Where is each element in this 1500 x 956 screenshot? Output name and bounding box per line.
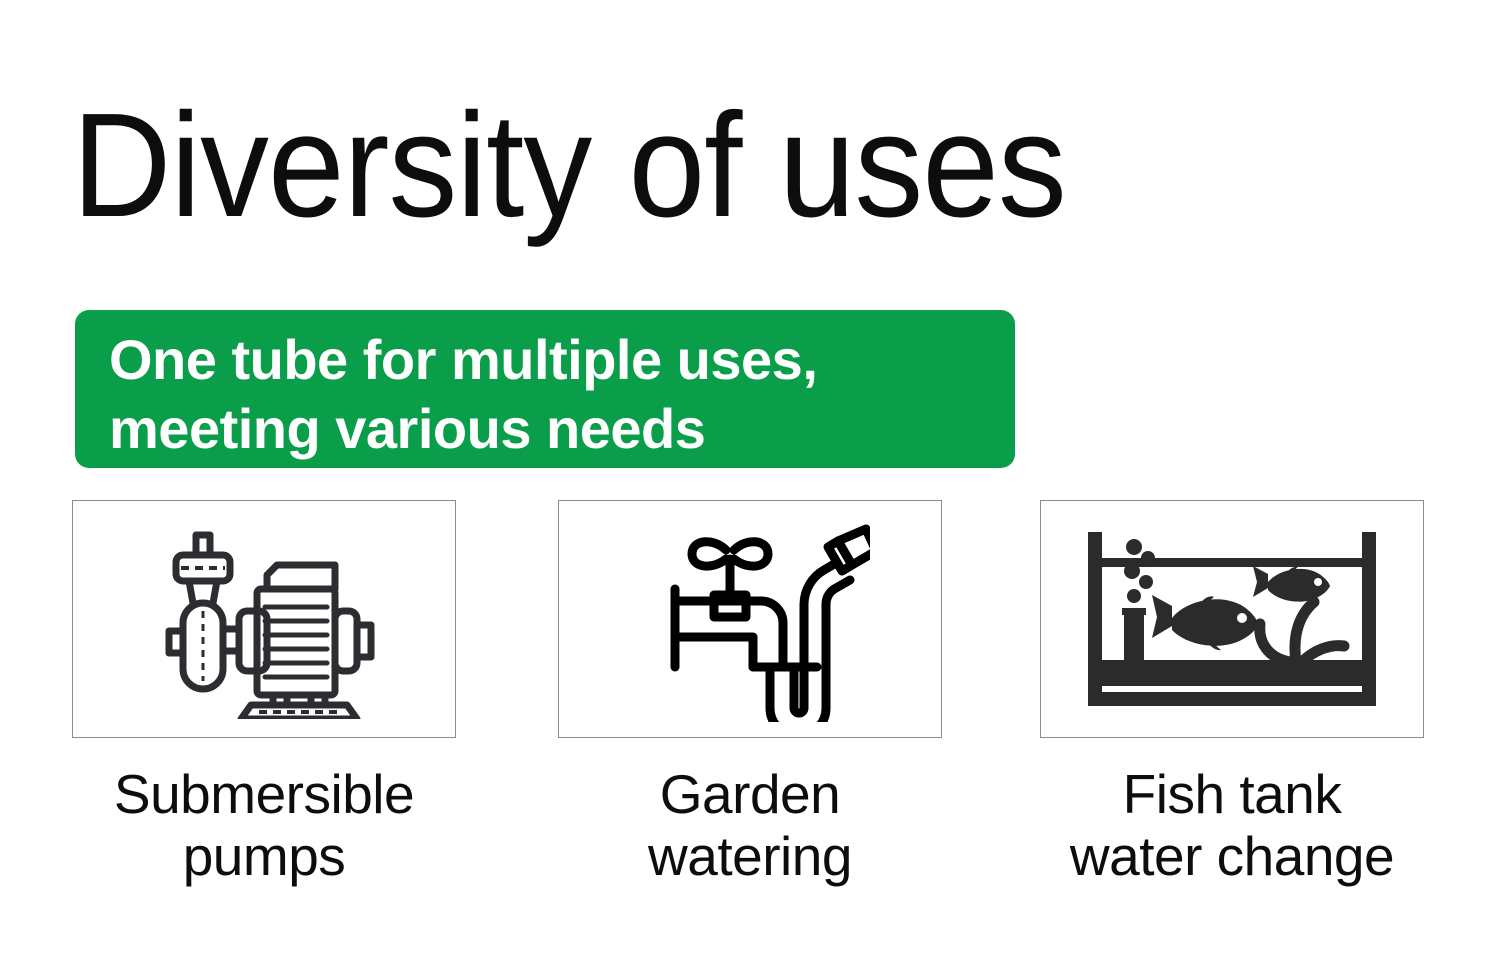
fish-tank-icon xyxy=(1082,526,1382,712)
use-case-card-submersible-pumps: Submersible pumps xyxy=(72,500,456,887)
card-caption-fish-tank: Fish tank water change xyxy=(1040,764,1424,887)
caption-line-1: Garden xyxy=(558,764,942,826)
caption-line-2: watering xyxy=(558,826,942,888)
caption-line-1: Fish tank xyxy=(1040,764,1424,826)
page-title: Diversity of uses xyxy=(72,92,1066,240)
garden-faucet-hose-icon xyxy=(630,517,870,722)
use-case-card-garden-watering: Garden watering xyxy=(558,500,942,887)
icon-frame-garden-watering xyxy=(558,500,942,738)
caption-line-1: Submersible xyxy=(72,764,456,826)
bubbles xyxy=(1124,539,1155,603)
card-caption-submersible-pumps: Submersible pumps xyxy=(72,764,456,887)
caption-line-2: pumps xyxy=(72,826,456,888)
icon-frame-submersible-pumps xyxy=(72,500,456,738)
aquarium-plants xyxy=(1260,602,1344,662)
banner-line-2: meeting various needs xyxy=(109,395,1015,464)
use-case-card-fish-tank: Fish tank water change xyxy=(1040,500,1424,887)
submersible-pump-icon xyxy=(139,519,389,719)
icon-frame-fish-tank xyxy=(1040,500,1424,738)
fish-large xyxy=(1152,595,1258,650)
highlight-banner: One tube for multiple uses, meeting vari… xyxy=(75,310,1015,468)
banner-line-1: One tube for multiple uses, xyxy=(109,326,1015,395)
card-caption-garden-watering: Garden watering xyxy=(558,764,942,887)
caption-line-2: water change xyxy=(1040,826,1424,888)
fish-small xyxy=(1253,566,1330,602)
